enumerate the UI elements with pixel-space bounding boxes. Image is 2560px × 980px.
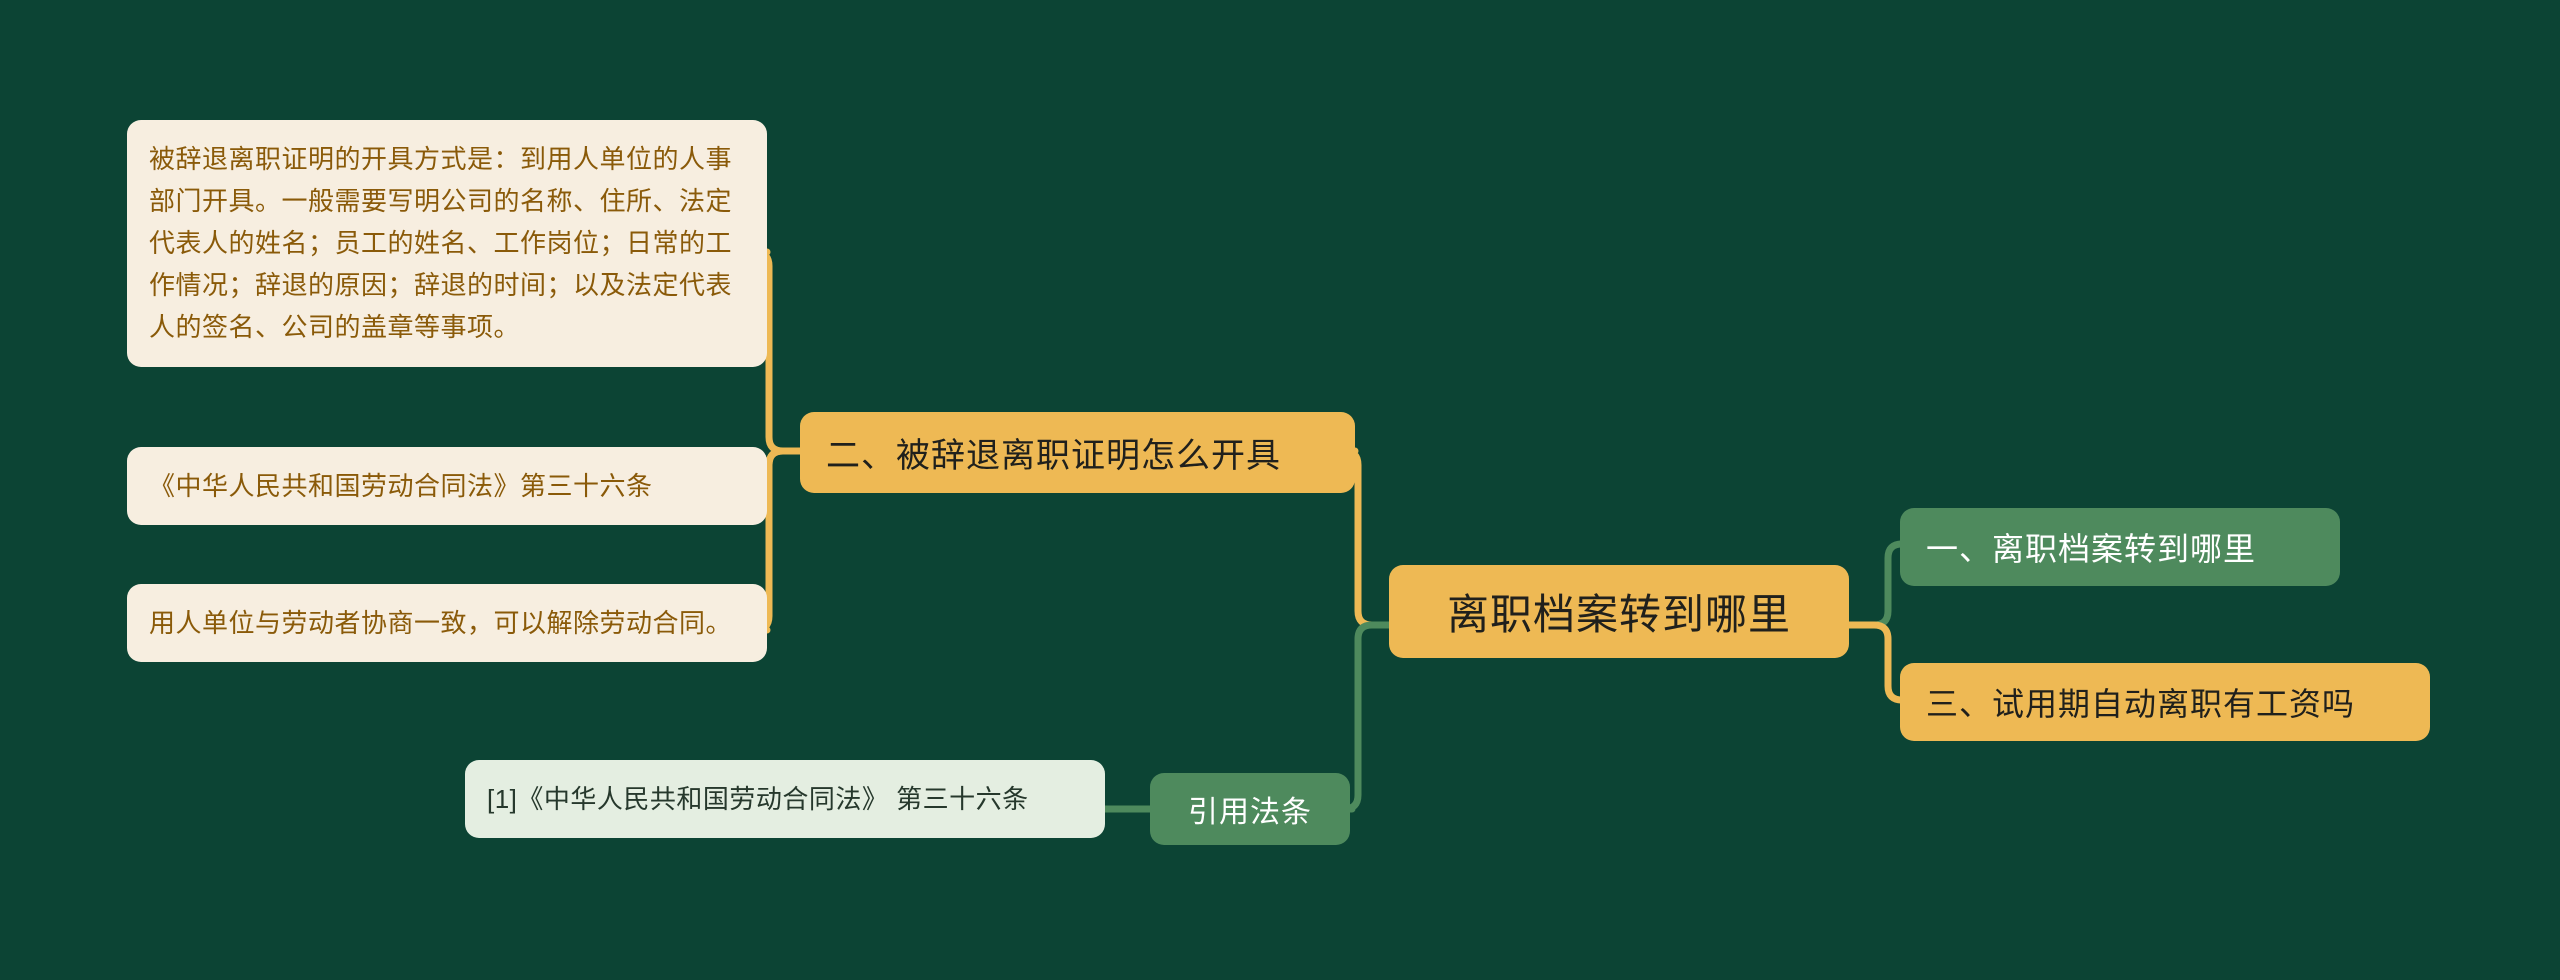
connector-root-to-where-archive — [1849, 544, 1902, 625]
leaf-dismissal-certificate-detail-label: 被辞退离职证明的开具方式是：到用人单位的人事部门开具。一般需要写明公司的名称、住… — [149, 138, 745, 349]
topic-how-to-issue-dismissal-certificate[interactable]: 二、被辞退离职证明怎么开具 — [800, 412, 1355, 493]
connector-root-to-cited-laws — [1344, 625, 1389, 809]
root-node-label: 离职档案转到哪里 — [1415, 581, 1823, 642]
root-node-where-is-resignation-file-transferred[interactable]: 离职档案转到哪里 — [1389, 565, 1849, 658]
topic-probation-auto-resignation-wage-label: 三、试用期自动离职有工资吗 — [1926, 679, 2404, 725]
leaf-labor-contract-law-article[interactable]: 《中华人民共和国劳动合同法》第三十六条 — [127, 447, 767, 525]
topic-probation-auto-resignation-wage[interactable]: 三、试用期自动离职有工资吗 — [1900, 663, 2430, 741]
mindmap-canvas: 被辞退离职证明的开具方式是：到用人单位的人事部门开具。一般需要写明公司的名称、住… — [0, 0, 2560, 980]
leaf-dismissal-certificate-detail[interactable]: 被辞退离职证明的开具方式是：到用人单位的人事部门开具。一般需要写明公司的名称、住… — [127, 120, 767, 367]
topic-cited-laws[interactable]: 引用法条 — [1150, 773, 1350, 845]
connector-root-to-probation-wage — [1849, 625, 1902, 700]
topic-cited-laws-label: 引用法条 — [1172, 787, 1328, 831]
leaf-mutual-agreement-termination[interactable]: 用人单位与劳动者协商一致，可以解除劳动合同。 — [127, 584, 767, 662]
leaf-cited-law-reference[interactable]: [1]《中华人民共和国劳动合同法》 第三十六条 — [465, 760, 1105, 838]
topic-how-to-issue-dismissal-certificate-label: 二、被辞退离职证明怎么开具 — [826, 428, 1329, 477]
leaf-labor-contract-law-article-label: 《中华人民共和国劳动合同法》第三十六条 — [149, 465, 745, 507]
topic-where-is-resignation-file-transferred-label: 一、离职档案转到哪里 — [1926, 524, 2314, 570]
leaf-cited-law-reference-label: [1]《中华人民共和国劳动合同法》 第三十六条 — [487, 778, 1083, 820]
leaf-mutual-agreement-termination-label: 用人单位与劳动者协商一致，可以解除劳动合同。 — [149, 602, 745, 644]
topic-where-is-resignation-file-transferred[interactable]: 一、离职档案转到哪里 — [1900, 508, 2340, 586]
